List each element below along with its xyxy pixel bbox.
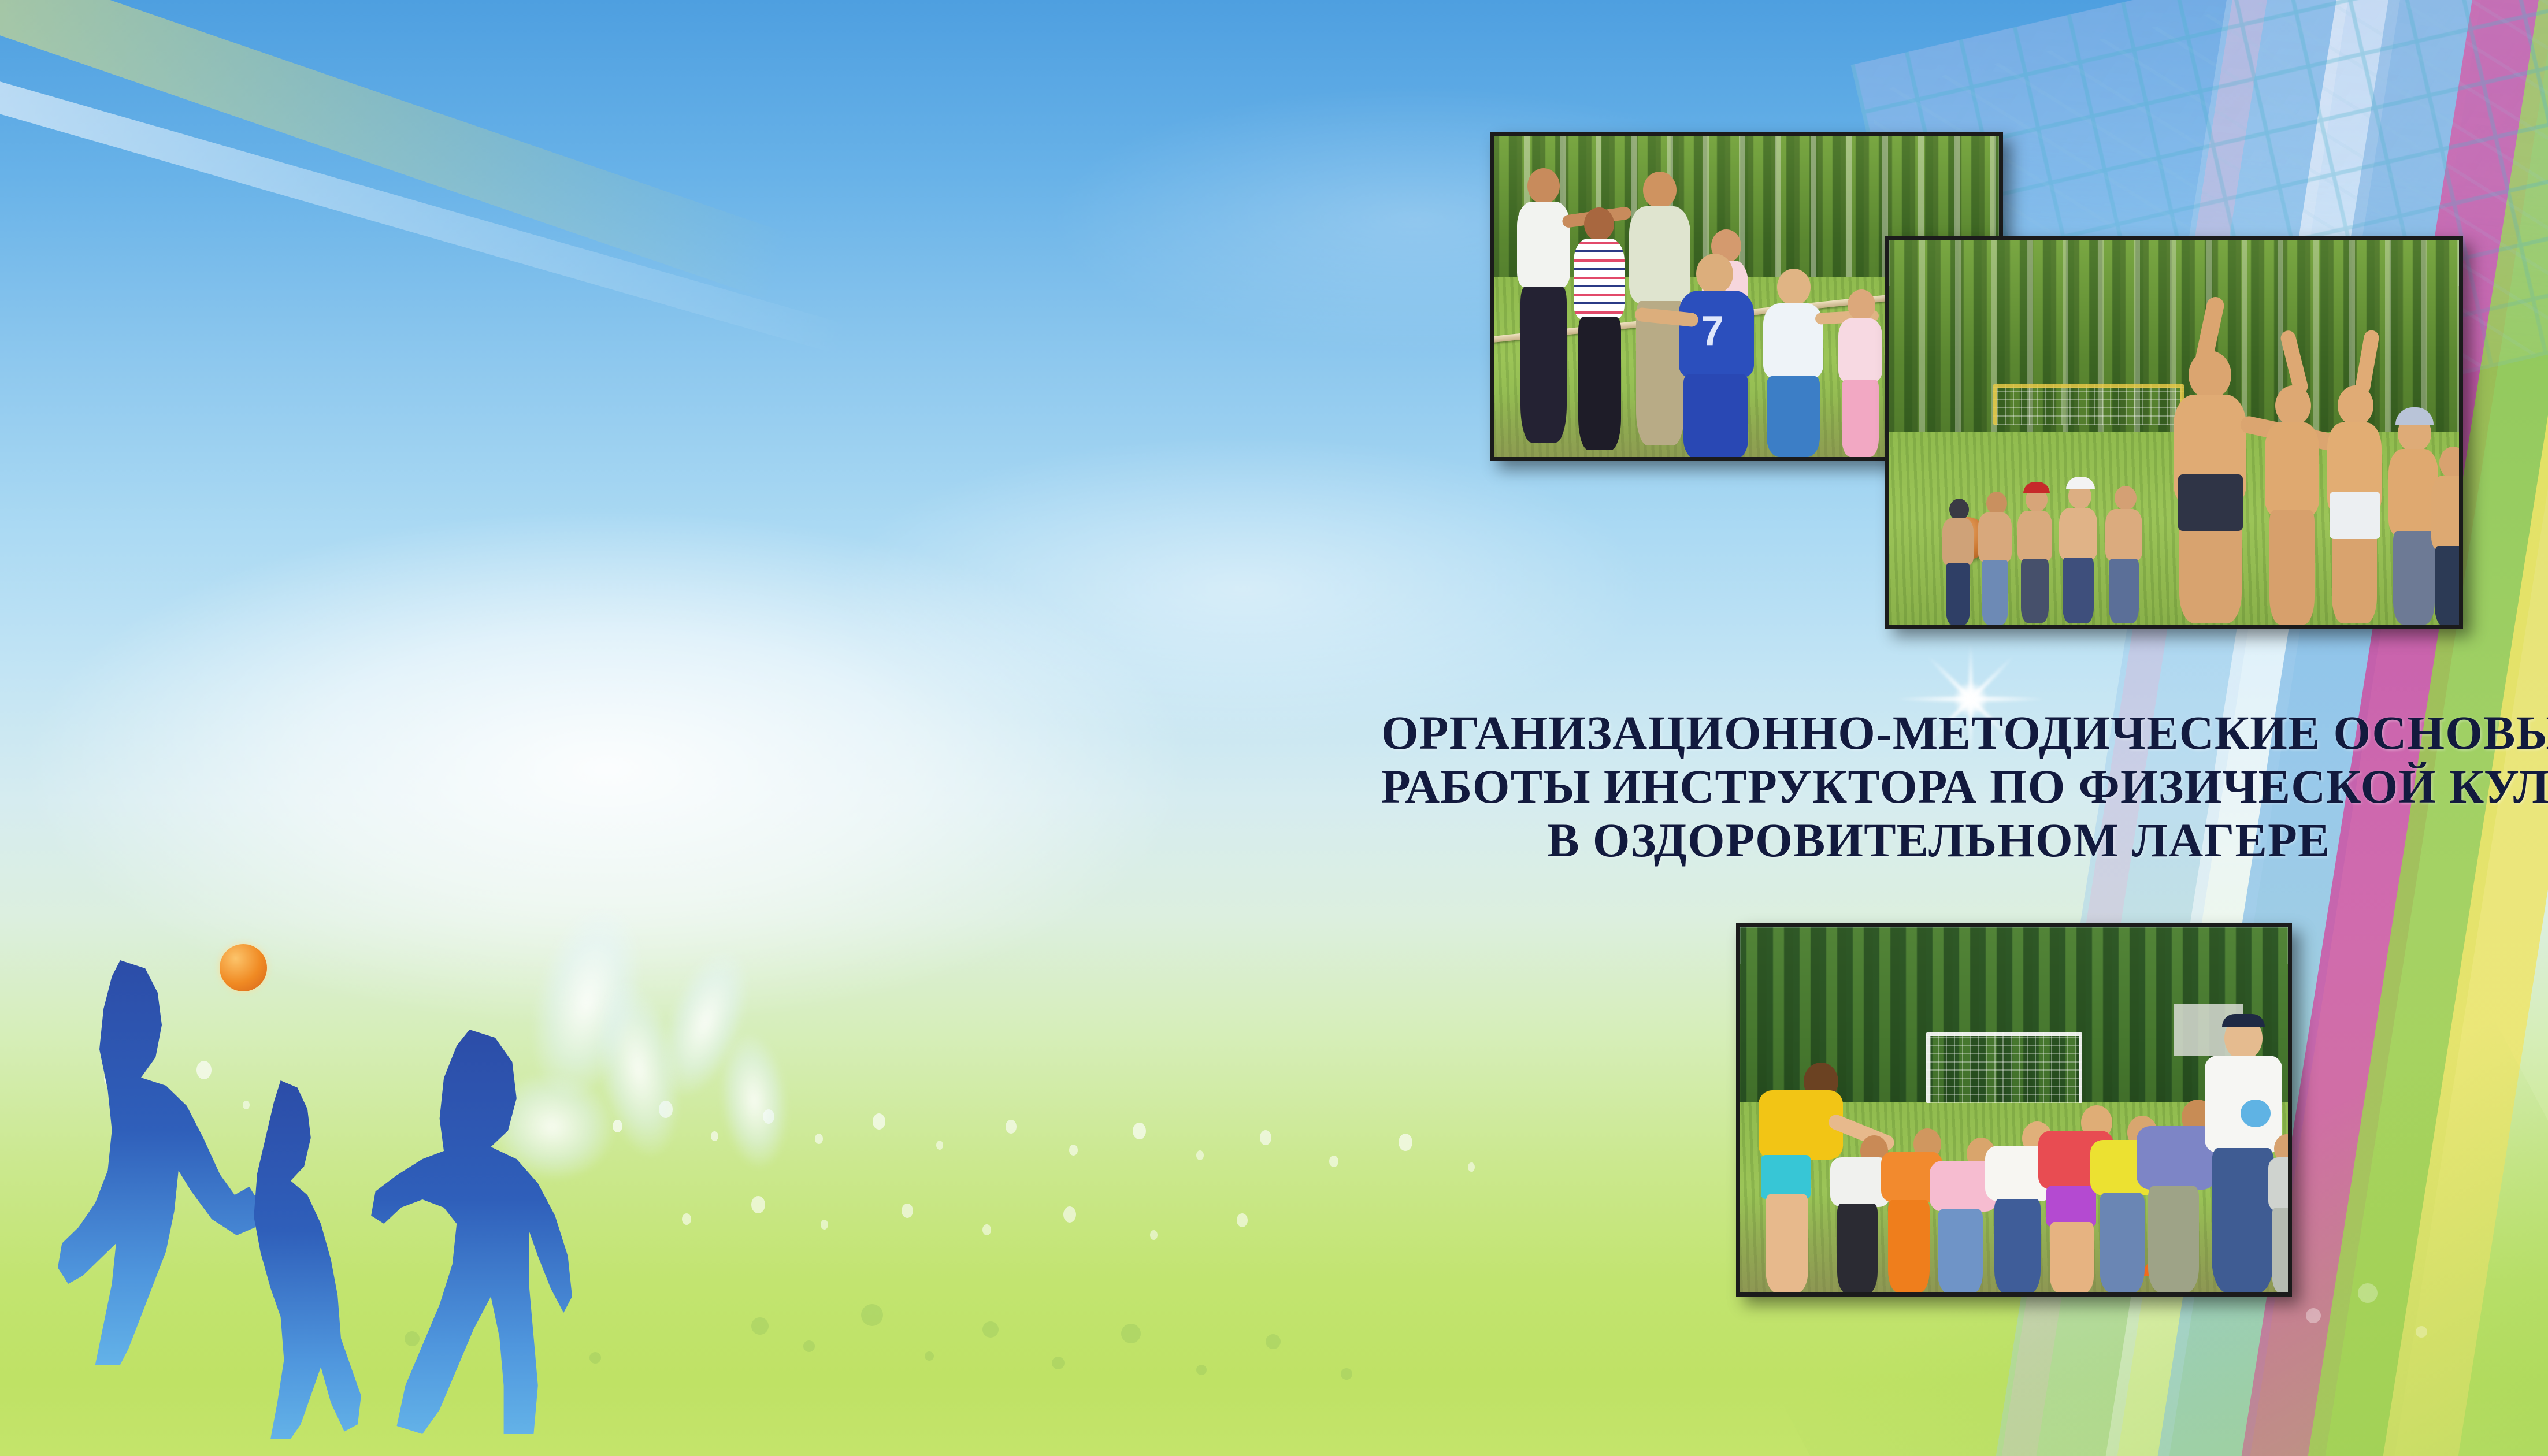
photo-team-celebration[interactable] <box>1885 236 2463 629</box>
shorts <box>2178 474 2243 531</box>
photo1-child <box>1834 266 1887 457</box>
photo3-child <box>2267 1102 2292 1292</box>
cap-icon <box>2066 477 2095 489</box>
photo1-child <box>1570 185 1628 457</box>
photo1-child-blue-jersey: 7 <box>1667 226 1766 457</box>
silhouette-ball-icon <box>220 944 267 991</box>
photo1-child <box>1755 243 1830 457</box>
photo2-child-whitecap <box>2057 473 2101 625</box>
title-line-2: РАБОТЫ ИНСТРУКТОРА ПО ФИЗИЧЕСКОЙ КУЛЬТУР… <box>1381 760 2497 814</box>
silhouette-player-middle <box>207 1080 374 1439</box>
ribbon-streak-white <box>0 23 850 355</box>
photo2-child <box>2425 393 2463 625</box>
photo2-child-front-celebrating <box>2153 301 2263 625</box>
photo2-child <box>1976 480 2014 625</box>
ribbon-arc-hairlines-2 <box>0 0 398 1030</box>
photo2-child <box>1940 486 1976 625</box>
logo-print <box>2241 1100 2271 1127</box>
page-title: ОРГАНИЗАЦИОННО-МЕТОДИЧЕСКИЕ ОСНОВЫ РАБОТ… <box>1381 706 2497 867</box>
photo-warmup-exercise[interactable] <box>1736 923 2292 1297</box>
photo2-child-cap <box>2015 477 2056 625</box>
photo1-child <box>1511 162 1575 457</box>
title-line-1: ОРГАНИЗАЦИОННО-МЕТОДИЧЕСКИЕ ОСНОВЫ <box>1381 706 2497 760</box>
shorts <box>1761 1155 1811 1199</box>
photo2-child <box>2103 476 2146 625</box>
silhouette-player-left <box>58 960 266 1365</box>
player-silhouettes <box>52 924 630 1444</box>
silhouette-player-right <box>358 1030 572 1434</box>
headband-icon <box>2222 1014 2265 1027</box>
jersey-number: 7 <box>1701 310 1724 352</box>
title-line-3: В ОЗДОРОВИТЕЛЬНОМ ЛАГЕРЕ <box>1381 814 2497 867</box>
ribbon-streak-yellow <box>0 0 792 300</box>
title-slide: 7 <box>0 0 2548 1456</box>
cap-icon <box>2023 482 2050 493</box>
shorts <box>2330 492 2380 539</box>
